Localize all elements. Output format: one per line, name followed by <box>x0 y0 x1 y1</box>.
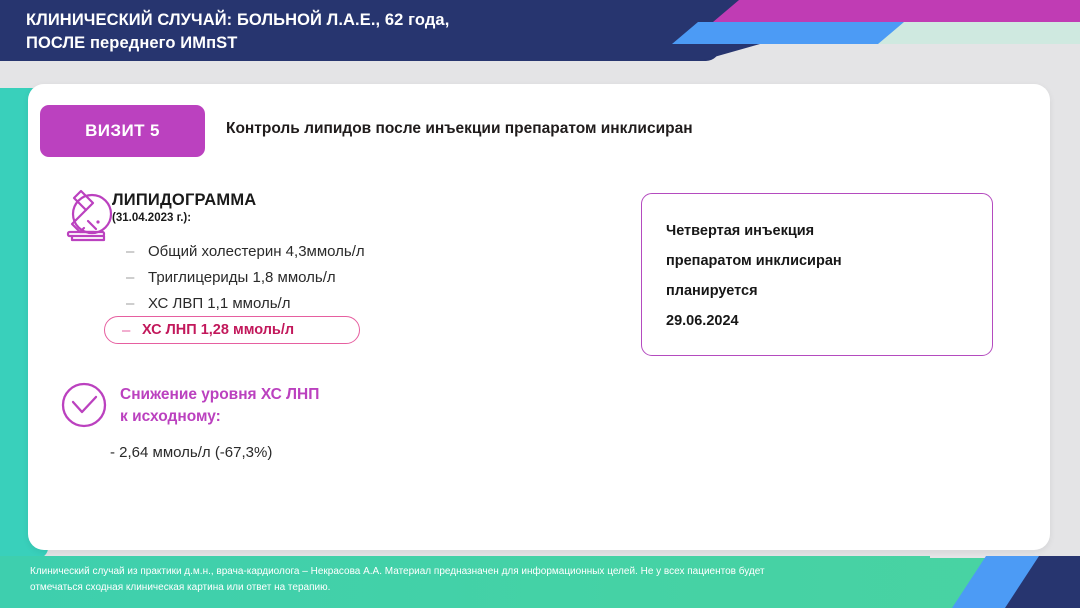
ldl-value-label: ХС ЛНП 1,28 ммоль/л <box>142 322 294 338</box>
ldl-highlight-pill: – ХС ЛНП 1,28 ммоль/л <box>104 316 360 344</box>
visit-subtitle: Контроль липидов после инъекции препарат… <box>226 120 846 138</box>
list-item-label: Общий холестерин 4,3ммоль/л <box>148 243 365 260</box>
footer-line-2: отмечаться сходная клиническая картина и… <box>30 580 910 596</box>
lipidogram-date: (31.04.2023 г.): <box>112 212 191 224</box>
callout-line-2: препаратом инклисиран <box>666 246 992 276</box>
list-item: – Триглицериды 1,8 ммоль/л <box>126 264 556 290</box>
footer-disclaimer: Клинический случай из практики д.м.н., в… <box>30 564 910 596</box>
visit-badge[interactable]: ВИЗИТ 5 <box>40 105 205 157</box>
header-stripe-magenta <box>713 0 1080 22</box>
bullet-dash: – <box>126 269 148 286</box>
reduction-title-line-2: к исходному: <box>120 406 460 428</box>
bullet-dash: – <box>126 243 148 260</box>
callout-line-3: планируется <box>666 276 992 306</box>
list-item: – ХС ЛВП 1,1 ммоль/л <box>126 290 556 316</box>
next-injection-callout: Четвертая инъекция препаратом инклисиран… <box>641 193 993 356</box>
list-item: – Общий холестерин 4,3ммоль/л <box>126 238 556 264</box>
check-circle-icon <box>60 381 108 429</box>
page-title-line-2: ПОСЛЕ переднего ИМпST <box>26 32 666 55</box>
slide-root: КЛИНИЧЕСКИЙ СЛУЧАЙ: БОЛЬНОЙ Л.А.Е., 62 г… <box>0 0 1080 608</box>
list-item-label: ХС ЛВП 1,1 ммоль/л <box>148 295 290 312</box>
callout-line-4: 29.06.2024 <box>666 306 992 336</box>
footer-line-1: Клинический случай из практики д.м.н., в… <box>30 564 910 580</box>
list-item-label: Триглицериды 1,8 ммоль/л <box>148 269 336 286</box>
slide-footer: Клинический случай из практики д.м.н., в… <box>0 556 1080 608</box>
page-title-line-1: КЛИНИЧЕСКИЙ СЛУЧАЙ: БОЛЬНОЙ Л.А.Е., 62 г… <box>26 9 666 32</box>
slide-header: КЛИНИЧЕСКИЙ СЛУЧАЙ: БОЛЬНОЙ Л.А.Е., 62 г… <box>0 0 1080 61</box>
lipidogram-title: ЛИПИДОГРАММА <box>112 191 256 210</box>
reduction-title: Снижение уровня ХС ЛНП к исходному: <box>120 384 460 428</box>
microscope-icon <box>60 185 116 243</box>
bullet-dash: – <box>126 295 148 312</box>
header-stripe-mint <box>878 22 1080 44</box>
bullet-dash: – <box>122 322 142 339</box>
callout-line-1: Четвертая инъекция <box>666 216 992 246</box>
reduction-title-line-1: Снижение уровня ХС ЛНП <box>120 384 460 406</box>
lipidogram-list: – Общий холестерин 4,3ммоль/л – Триглице… <box>126 238 556 316</box>
page-title: КЛИНИЧЕСКИЙ СЛУЧАЙ: БОЛЬНОЙ Л.А.Е., 62 г… <box>26 9 666 56</box>
visit-badge-label: ВИЗИТ 5 <box>85 121 160 141</box>
reduction-value: - 2,64 ммоль/л (-67,3%) <box>110 444 272 461</box>
